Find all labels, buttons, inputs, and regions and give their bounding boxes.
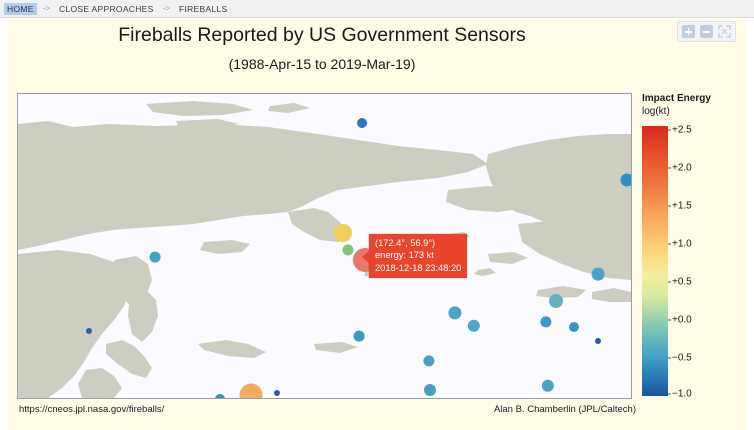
breadcrumb-separator: -> <box>163 4 170 13</box>
colorbar-tick-mark <box>668 320 671 321</box>
credit-label: Alan B. Chamberlin (JPL/Caltech) <box>494 404 636 415</box>
plus-icon-vertical <box>688 28 690 35</box>
breadcrumb-item-close-approaches[interactable]: CLOSE APPROACHES <box>56 3 157 15</box>
breadcrumb-item-home[interactable]: HOME <box>4 3 37 15</box>
tooltip-datetime: 2018-12-18 23:48:20 <box>375 262 461 274</box>
fireball-marker[interactable] <box>215 394 225 399</box>
fireball-marker[interactable] <box>621 174 633 187</box>
expand-button[interactable] <box>718 25 731 38</box>
breadcrumb-item-fireballs[interactable]: FIREBALLS <box>176 3 231 15</box>
colorbar-tick-label: −1.0 <box>672 389 692 400</box>
colorbar-tick-label: +2.0 <box>672 163 692 174</box>
page-title: Fireballs Reported by US Government Sens… <box>8 24 636 47</box>
legend-title: Impact Energy <box>642 93 746 104</box>
colorbar-tick-label: +0.0 <box>672 315 692 326</box>
fireball-marker[interactable] <box>343 245 354 256</box>
tooltip-arrow-icon <box>362 251 369 263</box>
minus-icon <box>703 31 710 33</box>
colorbar-tick-label: +2.5 <box>672 125 692 136</box>
colorbar-tick-mark <box>668 394 671 395</box>
figure-container: Fireballs Reported by US Government Sens… <box>8 19 746 430</box>
zoom-in-button[interactable] <box>682 25 695 38</box>
fireball-marker[interactable] <box>354 331 365 342</box>
legend: Impact Energy log(kt) +2.5 +2.0 +1.5 +1.… <box>642 93 746 117</box>
fireball-marker[interactable] <box>592 268 605 281</box>
map-controls <box>677 21 736 42</box>
breadcrumb-separator: -> <box>43 4 50 13</box>
source-url[interactable]: https://cneos.jpl.nasa.gov/fireballs/ <box>19 404 164 415</box>
colorbar-tick-mark <box>668 168 671 169</box>
page-subtitle: (1988-Apr-15 to 2019-Mar-19) <box>8 56 636 72</box>
colorbar-tick-mark <box>668 282 671 283</box>
zoom-out-button[interactable] <box>700 25 713 38</box>
map-panel[interactable]: (172.4°, 56.9°) energy: 173 kt 2018-12-1… <box>17 93 632 399</box>
colorbar-tick-label: +1.5 <box>672 201 692 212</box>
colorbar-tick-mark <box>668 206 671 207</box>
fireball-tooltip: (172.4°, 56.9°) energy: 173 kt 2018-12-1… <box>369 234 467 278</box>
colorbar-tick-label: +0.5 <box>672 277 692 288</box>
fireball-marker[interactable] <box>150 252 161 263</box>
tooltip-energy: energy: 173 kt <box>375 249 461 261</box>
breadcrumb: HOME -> CLOSE APPROACHES -> FIREBALLS <box>0 0 754 18</box>
legend-unit: log(kt) <box>642 106 746 117</box>
fireball-marker[interactable] <box>334 224 352 242</box>
colorbar-tick-mark <box>668 244 671 245</box>
fireball-marker[interactable] <box>240 384 263 400</box>
colorbar-tick-mark <box>668 358 671 359</box>
tooltip-coordinates: (172.4°, 56.9°) <box>375 237 461 249</box>
map-landmass <box>18 94 631 398</box>
fireball-marker[interactable] <box>549 294 563 308</box>
colorbar-tick-mark <box>668 130 671 131</box>
fireball-marker[interactable] <box>424 384 436 396</box>
fireball-marker[interactable] <box>357 118 367 128</box>
fireball-marker[interactable] <box>569 322 579 332</box>
fireball-marker[interactable] <box>274 390 280 396</box>
colorbar-tick-label: +1.0 <box>672 239 692 250</box>
colorbar-tick-label: −0.5 <box>672 353 692 364</box>
fireball-marker[interactable] <box>86 328 92 334</box>
fireball-marker[interactable] <box>595 338 601 344</box>
expand-icon <box>718 25 731 38</box>
colorbar-gradient <box>642 126 668 396</box>
